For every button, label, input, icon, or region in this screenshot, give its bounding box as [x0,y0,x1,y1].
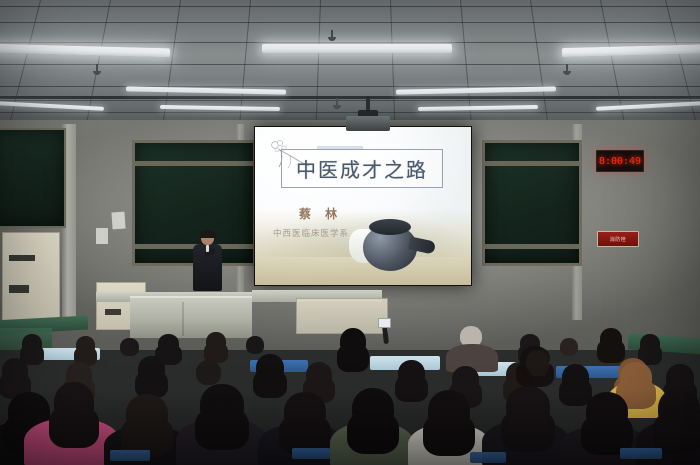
audience-head [138,356,165,383]
ceiling [0,0,700,132]
sprinkler-head-icon [331,30,333,39]
audience-head [586,392,628,432]
fluorescent-tube-light [126,86,286,94]
wall-notice [96,228,108,244]
audience-head-brown [620,362,652,392]
chalkboard-right [482,140,582,266]
audience-head [246,336,264,354]
wall-notice [111,212,125,230]
fluorescent-tube-light [0,101,104,111]
presentation-slide: 中医成才之路 蔡 林 中西医临床医学系 [255,127,471,285]
audience-head [2,358,28,384]
seated-audience [0,300,700,465]
audience-head [158,334,179,354]
audience-head [428,390,470,432]
audience-head [196,360,221,385]
audience-head [206,332,226,352]
fluorescent-tube-light [262,44,452,53]
audience-head [352,388,394,430]
smartphone-icon [378,318,391,328]
audience-head [284,392,326,432]
audience-head [120,338,139,356]
audience-head [506,386,550,428]
audience-head [452,366,479,393]
audience-head [560,338,578,356]
raised-arm [382,326,389,344]
fluorescent-tube-light [396,86,556,94]
led-clock-display: 8:00:49 [596,150,644,172]
audience-head [54,382,94,424]
handheld-microphone-icon [206,245,209,252]
sprinkler-head-icon [96,64,98,73]
audience-head [398,360,425,387]
slide-presenter-name: 蔡 林 [299,205,342,222]
audience-head [22,334,42,354]
projection-screen: 中医成才之路 蔡 林 中西医临床医学系 [254,126,472,286]
led-clock-text: 8:00:49 [599,156,641,167]
sprinkler-head-icon [336,98,338,107]
audience-head [658,388,700,430]
lecture-hall-photo: 中医成才之路 蔡 林 中西医临床医学系 8:00:49 消防栓 [0,0,700,465]
fluorescent-tube-light [418,105,538,111]
audience-head [520,346,550,372]
audience-head [340,328,366,356]
audience-head [256,354,284,382]
presenter-at-podium [190,231,224,291]
fire-hydrant-sign: 消防栓 [597,231,639,247]
audience-head [640,334,660,354]
sprinkler-head-icon [566,64,568,73]
teapot-icon [355,211,433,273]
fire-hydrant-sign-label: 消防栓 [610,236,627,243]
fluorescent-tube-light [596,101,700,111]
audience-head [76,336,95,355]
audience-head [200,384,244,426]
slide-title-box: 中医成才之路 [281,149,443,188]
audience-head [562,364,589,391]
fluorescent-tube-light [160,105,280,111]
audience-head [600,328,622,350]
slide-title: 中医成才之路 [296,154,428,183]
audience-head [306,362,332,388]
ceiling-projector-icon [346,116,390,131]
slide-presenter-department: 中西医临床医学系 [273,227,349,239]
audience-head [126,394,168,434]
chalkboard-far-left [0,128,66,228]
